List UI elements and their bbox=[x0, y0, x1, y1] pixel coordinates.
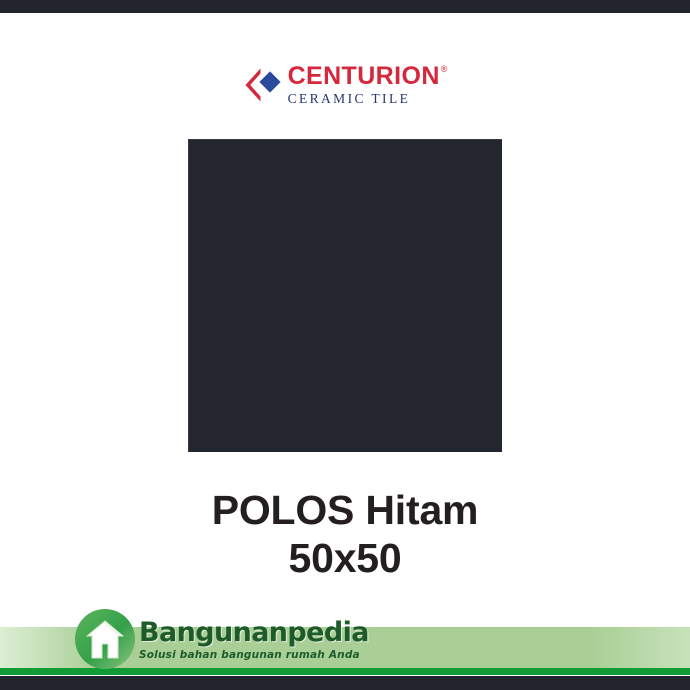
letterbox-top-bar bbox=[0, 0, 690, 13]
centurion-brand-logo: CENTURION ® CERAMIC TILE bbox=[0, 64, 690, 106]
tile-color-swatch bbox=[188, 139, 502, 452]
product-image-canvas: CENTURION ® CERAMIC TILE POLOS Hitam 50x… bbox=[0, 0, 690, 690]
brand-tagline: CERAMIC TILE bbox=[288, 92, 411, 106]
centurion-wordmark: CENTURION ® CERAMIC TILE bbox=[288, 64, 448, 106]
bangunanpedia-wordmark: Bangunanpedia Solusi bahan bangunan ruma… bbox=[139, 619, 469, 661]
registered-trademark-icon: ® bbox=[441, 65, 448, 74]
bangunanpedia-house-circle-icon bbox=[74, 608, 136, 670]
footer-brand-name: Bangunanpedia bbox=[139, 619, 469, 646]
centurion-chevron-diamond-icon bbox=[243, 67, 281, 103]
product-caption: POLOS Hitam 50x50 bbox=[0, 486, 690, 583]
brand-name: CENTURION bbox=[288, 64, 440, 89]
footer-brand-tagline: Solusi bahan bangunan rumah Anda bbox=[139, 650, 469, 661]
product-size: 50x50 bbox=[0, 534, 690, 582]
product-name: POLOS Hitam bbox=[0, 486, 690, 534]
letterbox-bottom-bar bbox=[0, 676, 690, 690]
